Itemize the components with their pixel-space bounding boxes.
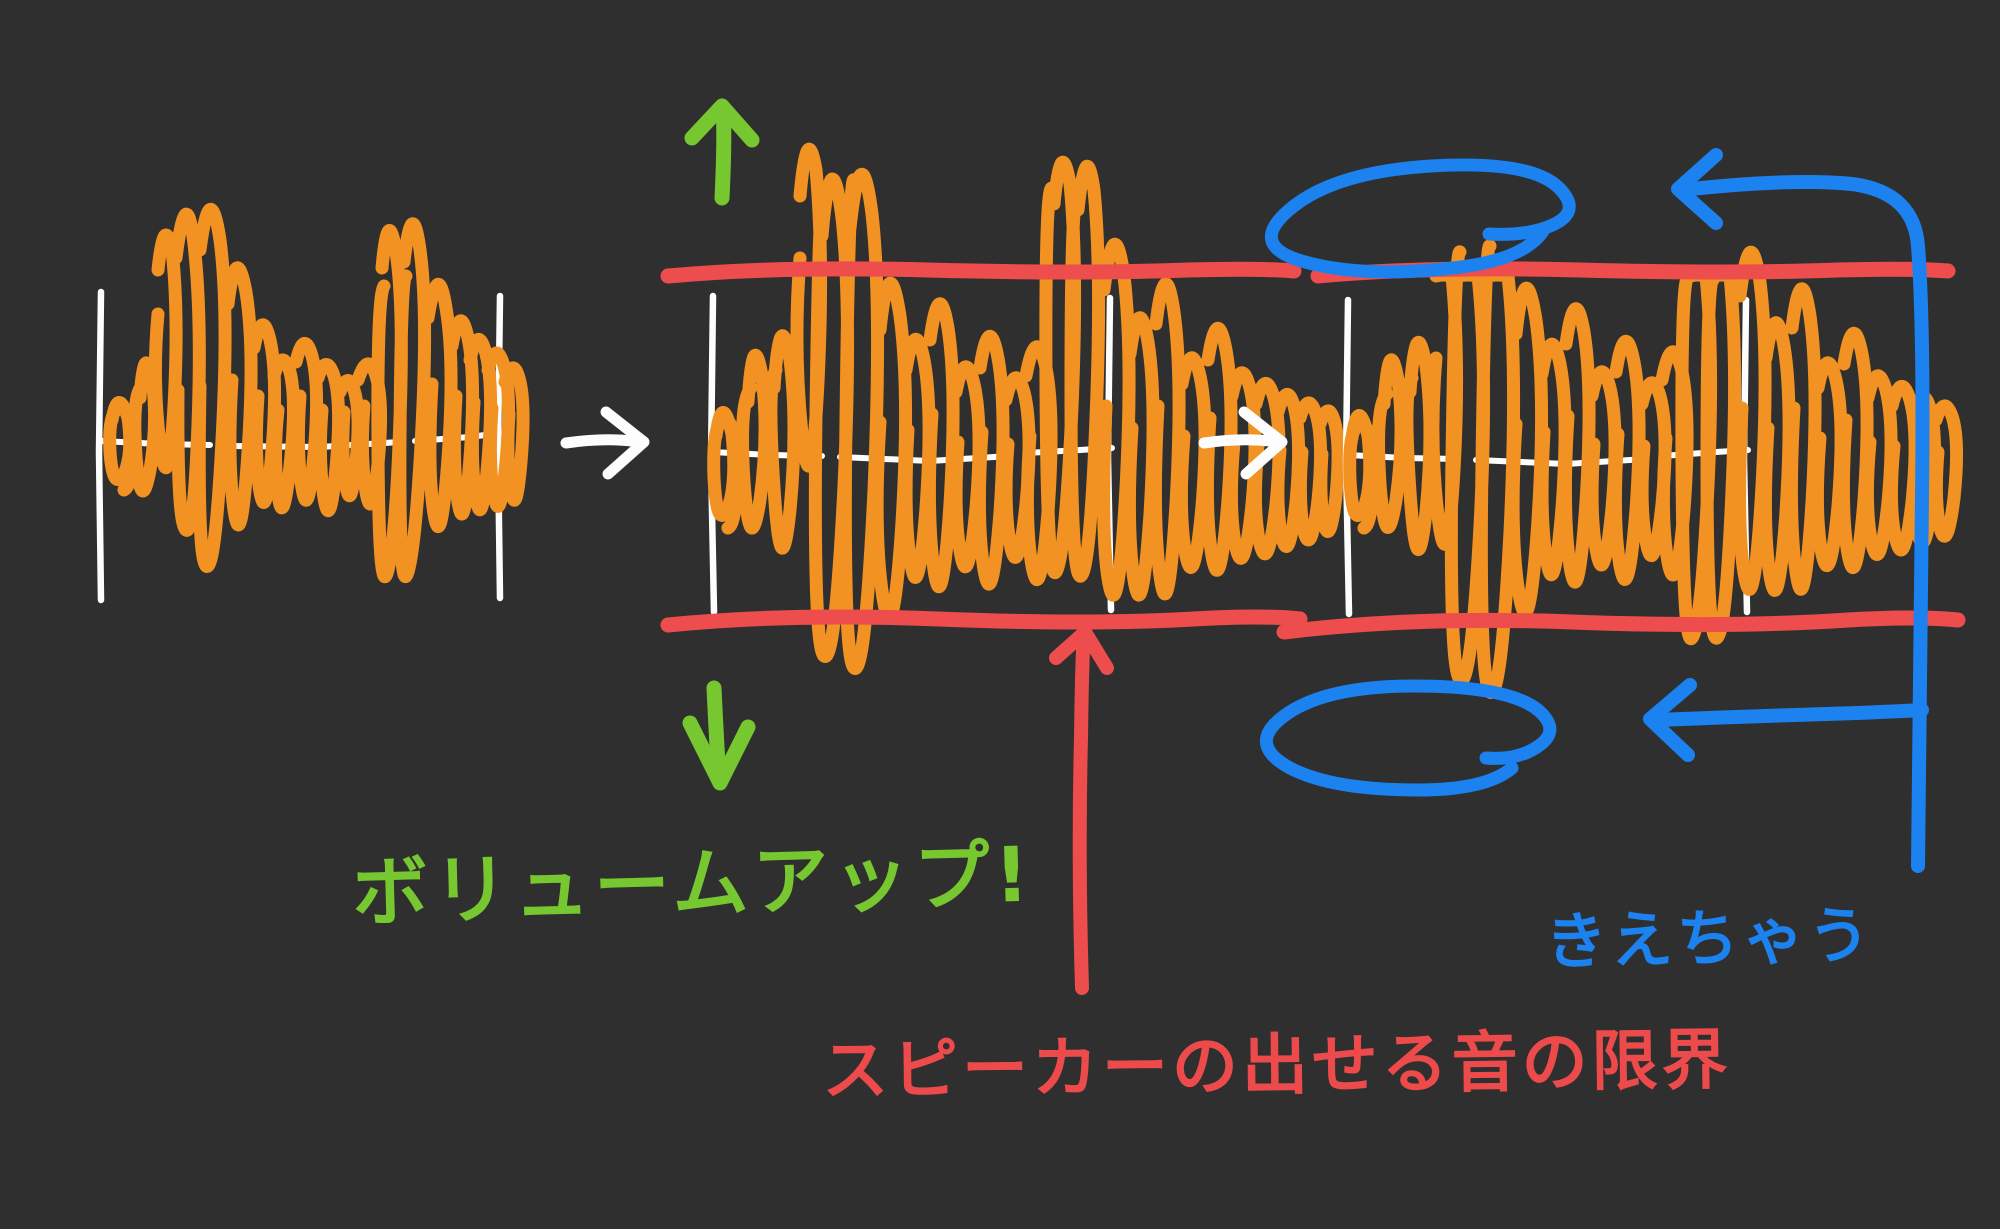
- clipped-region-top-ellipse: [1271, 165, 1569, 272]
- lower-limit-line: [668, 617, 1300, 625]
- volume-down-arrow: [690, 688, 748, 783]
- panel-original: [99, 209, 523, 600]
- speaker-limit-label: スピーカーの出せる音の限界: [821, 1006, 1732, 1113]
- panel-boosted: [668, 149, 1338, 668]
- waveform-path: [110, 209, 523, 576]
- clip-callout-arrow-bottom: [1650, 685, 1922, 755]
- frame-bracket-left: [99, 292, 101, 600]
- frame-bracket-right: [498, 296, 500, 598]
- upper-limit-line: [668, 269, 1294, 276]
- flow-arrow-1: [566, 412, 644, 474]
- whiteboard-canvas: .wave { fill:none; stroke:#f29223; strok…: [0, 0, 2000, 1229]
- volume-up-label: ボリュームアップ!: [351, 813, 1035, 942]
- panel-clipped: [1284, 246, 1958, 693]
- lower-limit-line: [1284, 618, 1958, 632]
- clipped-region-bottom-ellipse: [1266, 686, 1549, 790]
- limit-callout-arrow: [1056, 632, 1107, 988]
- volume-up-arrow: [692, 106, 752, 198]
- clipped-disappears-label: きえちゃう: [1544, 885, 1874, 982]
